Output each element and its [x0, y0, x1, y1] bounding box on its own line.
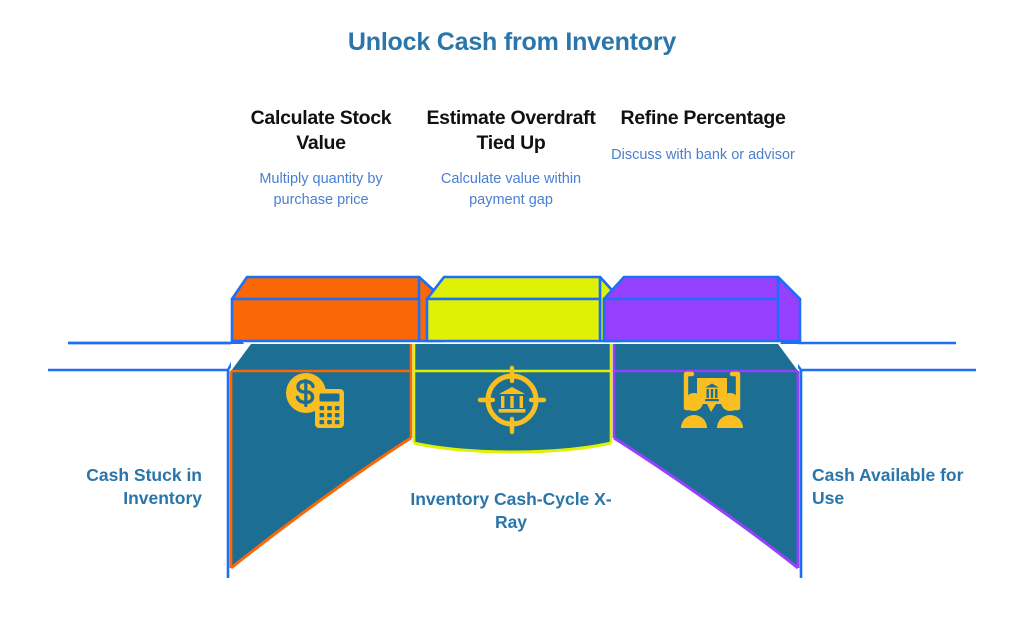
funnel-diagram — [0, 0, 1024, 631]
box-orange-front-face — [232, 299, 419, 341]
funnel-panel-left — [231, 344, 411, 568]
panel-right-top-slab — [614, 344, 798, 371]
box-orange — [232, 277, 443, 341]
infographic-canvas: Unlock Cash from Inventory Calculate Sto… — [0, 0, 1024, 631]
box-purple-front-face — [604, 299, 778, 341]
box-chartreuse — [427, 277, 620, 341]
panel-left-top-slab — [231, 344, 411, 371]
box-orange-top-face — [232, 277, 443, 299]
box-purple-side-face — [778, 277, 800, 341]
calculator-keys — [320, 406, 340, 424]
box-chartreuse-front-face — [427, 299, 600, 341]
person-right-head — [721, 393, 739, 411]
box-purple-top-face — [604, 277, 800, 299]
funnel-label-right: Cash Available for Use — [812, 464, 994, 511]
funnel-label-center: Inventory Cash-Cycle X-Ray — [395, 488, 627, 535]
funnel-panel-right — [614, 344, 798, 568]
box-chartreuse-top-face — [427, 277, 620, 299]
calculator-screen — [320, 394, 340, 402]
funnel-label-left: Cash Stuck in Inventory — [20, 464, 202, 511]
box-purple — [604, 277, 800, 341]
person-left-head — [685, 393, 703, 411]
